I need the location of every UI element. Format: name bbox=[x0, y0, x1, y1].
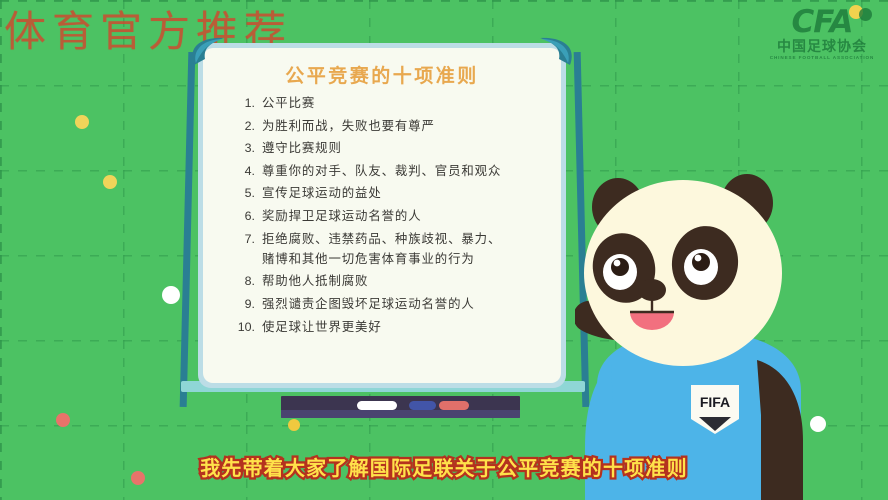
fair-play-item-number: 7. bbox=[233, 233, 255, 246]
fair-play-item-number: 5. bbox=[233, 187, 255, 200]
fair-play-item-text: 帮助他人抵制腐败 bbox=[262, 275, 547, 288]
fair-play-item-text: 奖励捍卫足球运动名誉的人 bbox=[262, 210, 547, 223]
cfa-logo: CFA 中国足球协会 CHINESE FOOTBALL ASSOCIATION bbox=[768, 6, 876, 68]
panda-nose bbox=[638, 279, 666, 301]
scene-root: 体育官方推荐 CFA 中国足球协会 CHINESE FOOTBALL ASSOC… bbox=[0, 0, 888, 500]
cfa-wordmark: CFA bbox=[792, 6, 853, 38]
fair-play-item: 2.为胜利而战，失败也要有尊严 bbox=[233, 120, 547, 133]
fair-play-item-number: 4. bbox=[233, 165, 255, 178]
fair-play-item-text: 为胜利而战，失败也要有尊严 bbox=[262, 120, 547, 133]
dot-white-1 bbox=[162, 286, 180, 304]
fair-play-item-text: 拒绝腐败、违禁药品、种族歧视、暴力、赌博和其他一切危害体育事业的行为 bbox=[262, 233, 547, 266]
panda-pupil-left bbox=[611, 258, 629, 276]
fair-play-item: 5.宣传足球运动的益处 bbox=[233, 187, 547, 200]
football-icon bbox=[859, 8, 872, 21]
cfa-english-name: CHINESE FOOTBALL ASSOCIATION bbox=[770, 55, 875, 60]
red-marker[interactable] bbox=[439, 401, 469, 410]
fair-play-item-number: 1. bbox=[233, 97, 255, 110]
fair-play-item-text: 强烈谴责企图毁坏足球运动名誉的人 bbox=[262, 298, 547, 311]
fair-play-item-number: 3. bbox=[233, 142, 255, 155]
fair-play-item: 4.尊重你的对手、队友、裁判、官员和观众 bbox=[233, 165, 547, 178]
board-title: 公平竞赛的十项准则 bbox=[203, 61, 561, 88]
dot-yellow-1 bbox=[75, 115, 89, 129]
dot-red-1 bbox=[56, 413, 70, 427]
fair-play-item: 7.拒绝腐败、违禁药品、种族歧视、暴力、赌博和其他一切危害体育事业的行为 bbox=[233, 233, 547, 266]
fair-play-item: 6.奖励捍卫足球运动名誉的人 bbox=[233, 210, 547, 223]
fair-play-item: 9.强烈谴责企图毁坏足球运动名誉的人 bbox=[233, 298, 547, 311]
fair-play-item-text: 遵守比赛规则 bbox=[262, 142, 547, 155]
whiteboard-surface: 公平竞赛的十项准则 1.公平比赛2.为胜利而战，失败也要有尊严3.遵守比赛规则4… bbox=[203, 48, 561, 383]
dot-yellow-3 bbox=[288, 419, 300, 431]
fair-play-item-number: 6. bbox=[233, 210, 255, 223]
fair-play-item-number: 10. bbox=[233, 321, 255, 334]
fair-play-list: 1.公平比赛2.为胜利而战，失败也要有尊严3.遵守比赛规则4.尊重你的对手、队友… bbox=[233, 97, 547, 343]
blue-marker[interactable] bbox=[409, 401, 436, 410]
fair-play-item: 8.帮助他人抵制腐败 bbox=[233, 275, 547, 288]
fair-play-item-text-line2: 赌博和其他一切危害体育事业的行为 bbox=[262, 253, 547, 266]
board-clip-right bbox=[539, 37, 573, 67]
fair-play-item: 3.遵守比赛规则 bbox=[233, 142, 547, 155]
fair-play-item-text: 公平比赛 bbox=[262, 97, 547, 110]
marker-tray bbox=[281, 396, 520, 418]
fair-play-item-number: 8. bbox=[233, 275, 255, 288]
dot-yellow-2 bbox=[103, 175, 117, 189]
white-marker[interactable] bbox=[357, 401, 397, 410]
fair-play-item-number: 9. bbox=[233, 298, 255, 311]
panda-pupil-right bbox=[692, 253, 710, 271]
panda-eye-glint-right bbox=[695, 255, 702, 262]
fair-play-item: 1.公平比赛 bbox=[233, 97, 547, 110]
panda-mascot: FIFA bbox=[575, 155, 888, 500]
fair-play-item: 10.使足球让世界更美好 bbox=[233, 321, 547, 334]
subtitle-caption: 我先带着大家了解国际足联关于公平竞赛的十项准则 bbox=[0, 452, 888, 481]
fair-play-item-text: 尊重你的对手、队友、裁判、官员和观众 bbox=[262, 165, 547, 178]
board-clip-left bbox=[191, 37, 225, 67]
fair-play-item-text: 使足球让世界更美好 bbox=[262, 321, 547, 334]
cfa-chinese-name: 中国足球协会 bbox=[777, 39, 867, 54]
whiteboard: 公平竞赛的十项准则 1.公平比赛2.为胜利而战，失败也要有尊严3.遵守比赛规则4… bbox=[198, 43, 566, 388]
fair-play-item-text: 宣传足球运动的益处 bbox=[262, 187, 547, 200]
panda-eye-glint-left bbox=[614, 260, 621, 267]
fifa-badge-text: FIFA bbox=[700, 394, 730, 410]
fair-play-item-number: 2. bbox=[233, 120, 255, 133]
